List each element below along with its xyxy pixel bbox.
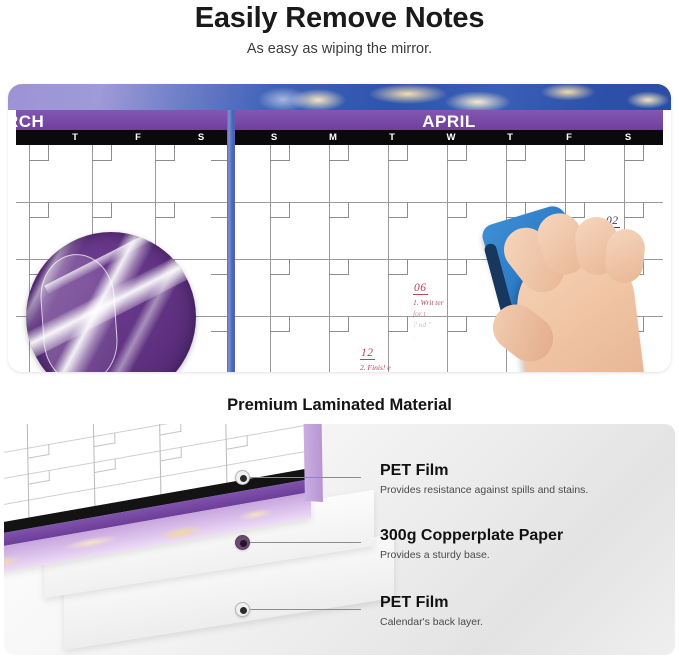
product-feature-page: Easily Remove Notes As easy as wiping th… (0, 0, 679, 657)
sheet-daybox (28, 470, 50, 485)
calendar-binding (227, 110, 235, 372)
material-section-title: Premium Laminated Material (0, 396, 679, 415)
weekday-label: S (613, 130, 643, 145)
layer-connector-dot-3[interactable] (235, 602, 250, 617)
finger-little (603, 227, 646, 285)
note-date: 06 (413, 282, 428, 295)
layer-title: PET Film (380, 462, 588, 480)
layer-title: PET Film (380, 594, 483, 612)
calendar-day-cell[interactable] (447, 145, 467, 161)
weekday-label: S (186, 130, 216, 145)
sheet-daybox (226, 435, 248, 450)
weekday-label: F (123, 130, 153, 145)
calendar-day-cell[interactable] (624, 145, 644, 161)
note-entry: 06 1. Writ ter for t ? nd " , (413, 278, 444, 340)
weekday-label: F (554, 130, 584, 145)
sheet-right-edge (302, 424, 323, 502)
calendar-day-cell[interactable] (447, 202, 467, 218)
sheet-daybox (94, 458, 116, 473)
calendar-day-cell[interactable] (388, 145, 408, 161)
note-line: 1. Writ ter (413, 298, 444, 307)
weekday-label: T (60, 130, 90, 145)
month-label-march: RCH (8, 112, 44, 131)
weekday-label: W (436, 130, 466, 145)
calendar-day-cell[interactable] (329, 259, 349, 275)
weekday-label: M (318, 130, 348, 145)
calendar-day-cell[interactable] (388, 316, 408, 332)
hand-illustration (506, 215, 658, 372)
layer-label-3: PET Film Calendar's back layer. (380, 594, 483, 628)
calendar-day-cell[interactable] (155, 145, 175, 161)
calendar-day-cell[interactable] (447, 259, 467, 275)
note-entry: 12 2. Finis! e proi gineerin ? n 5- r (360, 343, 399, 372)
calendar-day-cell[interactable] (565, 145, 585, 161)
page-subtitle: As easy as wiping the mirror. (0, 41, 679, 57)
month-bar-right: APRIL (235, 110, 663, 130)
laminated-layers-panel: PET Film Provides resistance against spi… (4, 424, 675, 655)
page-title: Easily Remove Notes (0, 2, 679, 35)
month-bar-left: RCH (16, 110, 228, 130)
layer-desc: Provides resistance against spills and s… (380, 484, 588, 496)
month-label-april: APRIL (235, 112, 663, 131)
weekday-label: S (259, 130, 289, 145)
note-date: 12 (360, 347, 375, 360)
layer-label-2: 300g Copperplate Paper Provides a sturdy… (380, 527, 563, 561)
sheet-daybox (27, 444, 49, 459)
calendar-decorative-artwork (8, 84, 671, 110)
layer-desc: Calendar's back layer. (380, 616, 483, 628)
calendar-day-cell[interactable] (329, 202, 349, 218)
layer-connector-line-2 (250, 542, 361, 543)
calendar-day-cell[interactable] (270, 316, 290, 332)
film-curl-outline (38, 252, 121, 372)
calendar-day-cell[interactable] (270, 145, 290, 161)
note-line: for t (413, 309, 444, 318)
calendar-day-cell[interactable] (270, 259, 290, 275)
calendar-day-cell[interactable] (29, 145, 49, 161)
note-line: , (413, 331, 444, 340)
artwork-highlight (248, 84, 318, 110)
calendar-day-cell[interactable] (155, 202, 175, 218)
sheet-gridline (4, 424, 309, 459)
layer-connector-line-3 (250, 609, 361, 610)
layer-connector-dot-1[interactable] (235, 470, 250, 485)
weekday-label: T (495, 130, 525, 145)
calendar-day-cell[interactable] (29, 202, 49, 218)
weekday-bar-left: TFS (16, 130, 228, 145)
weekday-bar-right: SMTWTFS (235, 130, 663, 145)
sheet-daybox (160, 447, 182, 462)
layer-connector-dot-2[interactable] (235, 535, 250, 550)
layer-title: 300g Copperplate Paper (380, 527, 563, 545)
layer-label-1: PET Film Provides resistance against spi… (380, 462, 588, 496)
calendar-day-cell[interactable] (329, 316, 349, 332)
sheet-daybox (93, 432, 115, 447)
calendar-day-cell[interactable] (447, 316, 467, 332)
calendar-day-cell[interactable] (506, 145, 526, 161)
sheet-daybox (159, 424, 181, 436)
note-line: ? nd " (413, 320, 444, 329)
calendar-photo-panel: RCH APRIL TFS SMTWTFS 06 1. Writ ter for… (8, 84, 671, 372)
note-line: 2. Finis! e (360, 363, 399, 372)
layer-connector-line-1 (250, 477, 361, 478)
calendar-day-cell[interactable] (92, 145, 112, 161)
weekday-label: T (377, 130, 407, 145)
calendar-day-cell[interactable] (270, 202, 290, 218)
calendar-day-cell[interactable] (92, 202, 112, 218)
calendar-day-cell[interactable] (329, 145, 349, 161)
calendar-day-cell[interactable] (388, 202, 408, 218)
layer-desc: Provides a sturdy base. (380, 549, 563, 561)
calendar-day-cell[interactable] (388, 259, 408, 275)
